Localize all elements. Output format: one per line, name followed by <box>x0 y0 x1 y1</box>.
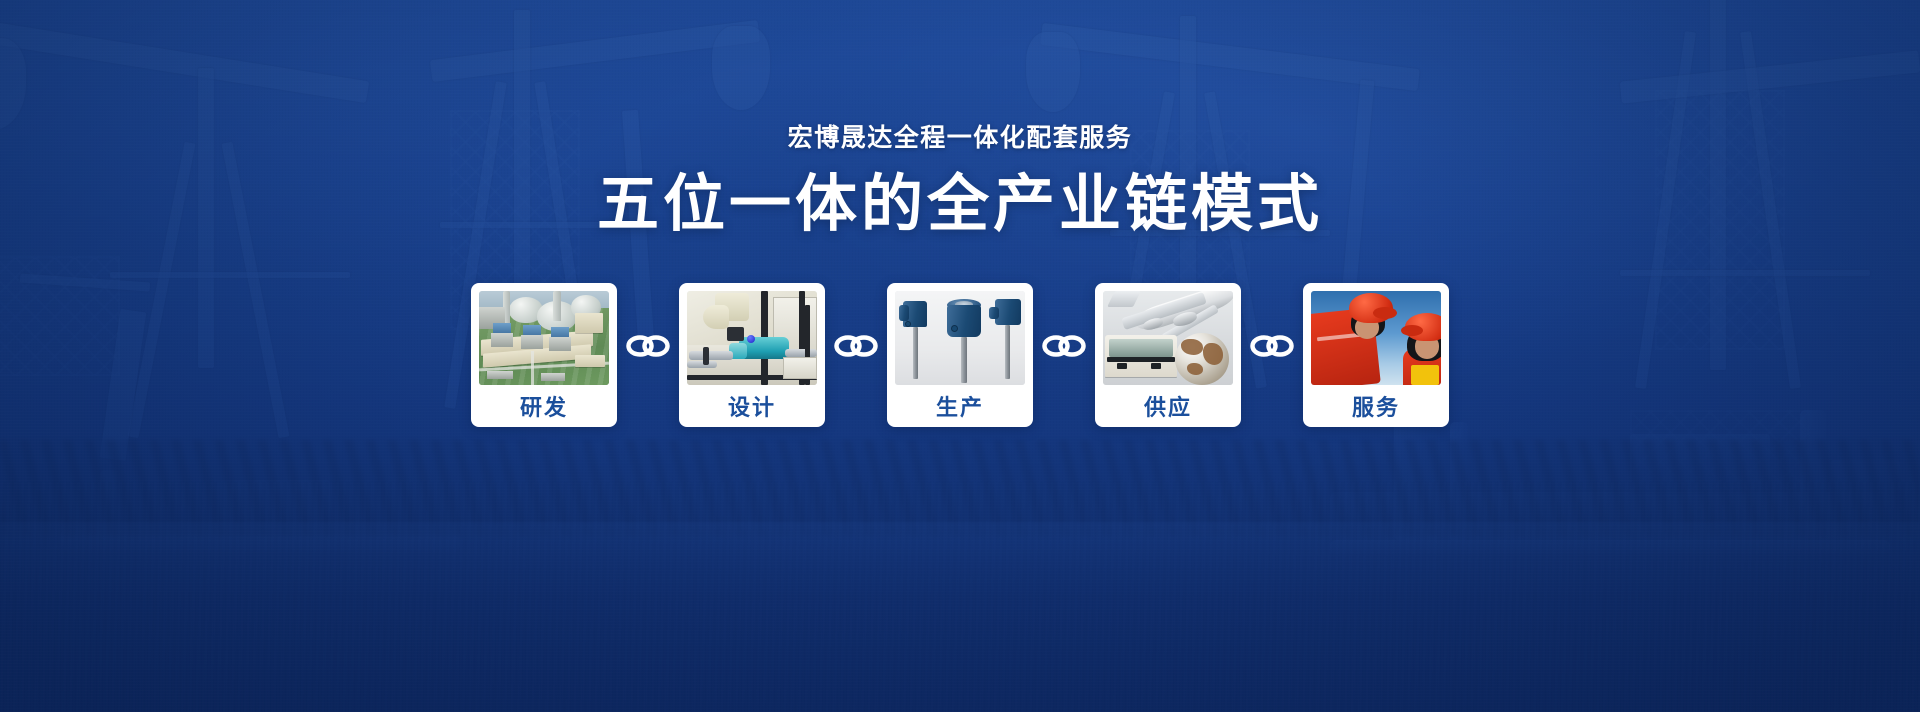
chain-link-icon <box>1250 333 1294 359</box>
chain-card-production-thumbnail <box>895 291 1025 385</box>
banner-title: 五位一体的全产业链模式 <box>597 172 1323 239</box>
chain-link-icon <box>1042 333 1086 359</box>
banner-content: 宏博晟达全程一体化配套服务 五位一体的全产业链模式 <box>0 0 1920 712</box>
chain-card-service-label: 服务 <box>1311 385 1441 427</box>
chain-connector-3 <box>1033 333 1095 359</box>
chain-card-service-thumbnail <box>1311 291 1441 385</box>
chain-card-design-label: 设计 <box>687 385 817 427</box>
chain-link-icon <box>626 333 670 359</box>
chain-card-design[interactable]: 设计 <box>679 283 825 427</box>
chain-card-production-label: 生产 <box>895 385 1025 427</box>
chain-connector-1 <box>617 333 679 359</box>
chain-connector-4 <box>1241 333 1303 359</box>
chain-card-rd[interactable]: 研发 <box>471 283 617 427</box>
chain-card-rd-label: 研发 <box>479 385 609 427</box>
chain-link-icon <box>834 333 878 359</box>
hero-banner: 宏博晟达全程一体化配套服务 五位一体的全产业链模式 <box>0 0 1920 712</box>
chain-card-production[interactable]: 生产 <box>887 283 1033 427</box>
chain-connector-2 <box>825 333 887 359</box>
chain-card-service[interactable]: 服务 <box>1303 283 1449 427</box>
chain-card-design-thumbnail <box>687 291 817 385</box>
chain-card-supply-label: 供应 <box>1103 385 1233 427</box>
chain-card-supply-thumbnail <box>1103 291 1233 385</box>
value-chain-row: 研发 <box>471 283 1449 427</box>
banner-subtitle: 宏博晟达全程一体化配套服务 <box>788 118 1133 154</box>
chain-card-supply[interactable]: 供应 <box>1095 283 1241 427</box>
chain-card-rd-thumbnail <box>479 291 609 385</box>
